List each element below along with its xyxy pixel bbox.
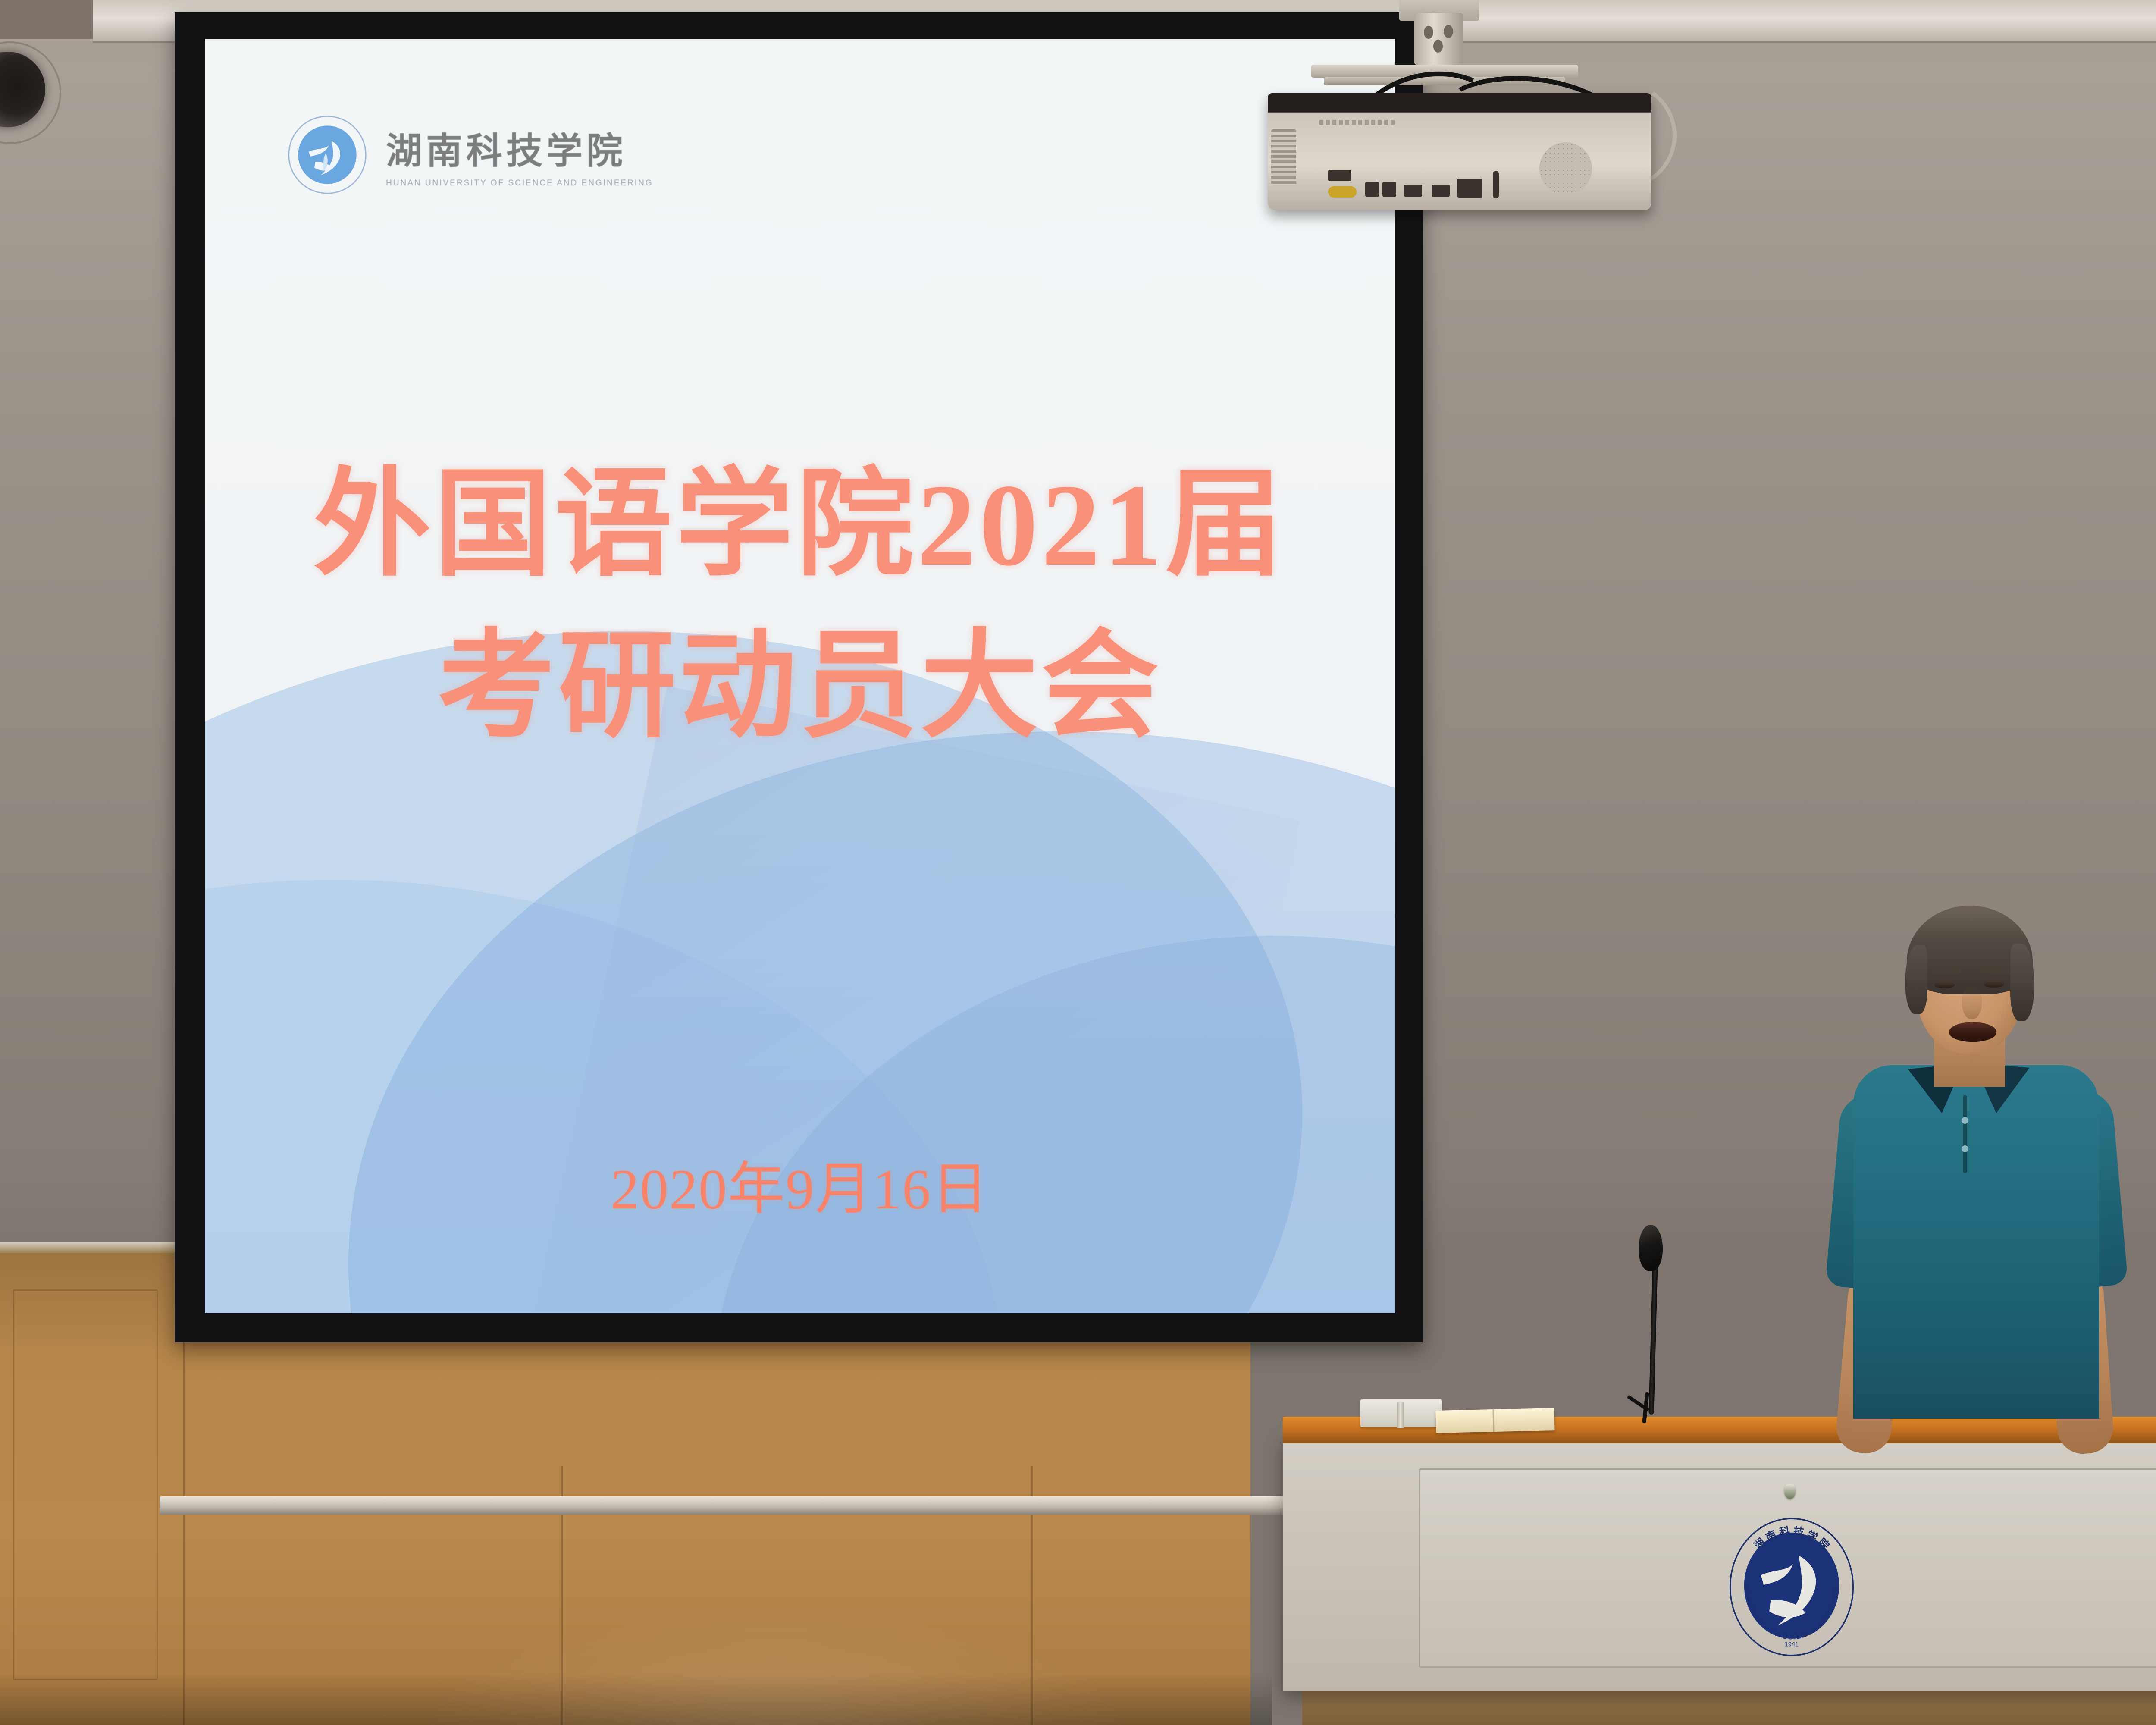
- slide-title-line-1: 外国语学院2021届: [205, 444, 1395, 606]
- wainscot-panel-1: [13, 1289, 158, 1680]
- university-crest-icon: [287, 114, 368, 195]
- microphone-base: [1621, 1384, 1664, 1423]
- presentation-slide: 湖南科技学院 HUNAN UNIVERSITY OF SCIENCE AND E…: [205, 39, 1395, 1313]
- slide-title-line-2: 考研动员大会: [205, 606, 1395, 768]
- slide-logo-chinese: 湖南科技学院: [386, 122, 653, 174]
- screen-bottom-weight-bar: [160, 1496, 1445, 1515]
- speaker-nose: [1962, 987, 1982, 1019]
- slide-date: 2020年9月16日: [205, 1143, 1395, 1225]
- open-book-on-podium: [1435, 1408, 1554, 1433]
- podium-university-crest-icon: 湖 南 科 技 学 院 HUNAN UNIVERSITY OF SCIENCE …: [1720, 1514, 1863, 1660]
- projector-port-panel: [1328, 160, 1509, 198]
- projector-vent-icon: [1271, 129, 1296, 185]
- lecture-hall-scene: 不 息: [0, 0, 2156, 1725]
- podium-lock-icon[interactable]: [1784, 1483, 1796, 1499]
- speaker-person: [1802, 893, 2156, 1475]
- speaker-mouth: [1949, 1022, 1996, 1042]
- projector-label-strip: [1319, 120, 1397, 125]
- podium-nameplate-stand: [1397, 1402, 1404, 1428]
- speaker-hair-left: [1905, 945, 1927, 1014]
- slide-university-logo: 湖南科技学院 HUNAN UNIVERSITY OF SCIENCE AND E…: [287, 114, 653, 195]
- projector-speaker-grille-icon: [1539, 142, 1592, 195]
- floor-shadow: [0, 1673, 1272, 1725]
- slide-logo-english: HUNAN UNIVERSITY OF SCIENCE AND ENGINEER…: [386, 179, 653, 188]
- speaker-eye-left: [1934, 982, 1955, 988]
- speaker-shirt-button-1: [1962, 1117, 1968, 1124]
- slide-title-block: 外国语学院2021届 考研动员大会: [205, 444, 1395, 768]
- projector-mount-pole: [1414, 13, 1463, 65]
- projection-screen-frame: 湖南科技学院 HUNAN UNIVERSITY OF SCIENCE AND E…: [175, 12, 1423, 1342]
- speaker-eye-right: [1984, 981, 2004, 988]
- slide-logo-text: 湖南科技学院 HUNAN UNIVERSITY OF SCIENCE AND E…: [386, 122, 653, 188]
- projection-screen-surface: 湖南科技学院 HUNAN UNIVERSITY OF SCIENCE AND E…: [205, 39, 1395, 1313]
- microphone-head-icon: [1639, 1225, 1663, 1271]
- speaker-shirt-button-2: [1962, 1145, 1968, 1152]
- speaker-polo-shirt: [1853, 1065, 2099, 1419]
- svg-text:1941: 1941: [1785, 1641, 1799, 1648]
- speaker-shirt-placket: [1963, 1095, 1967, 1173]
